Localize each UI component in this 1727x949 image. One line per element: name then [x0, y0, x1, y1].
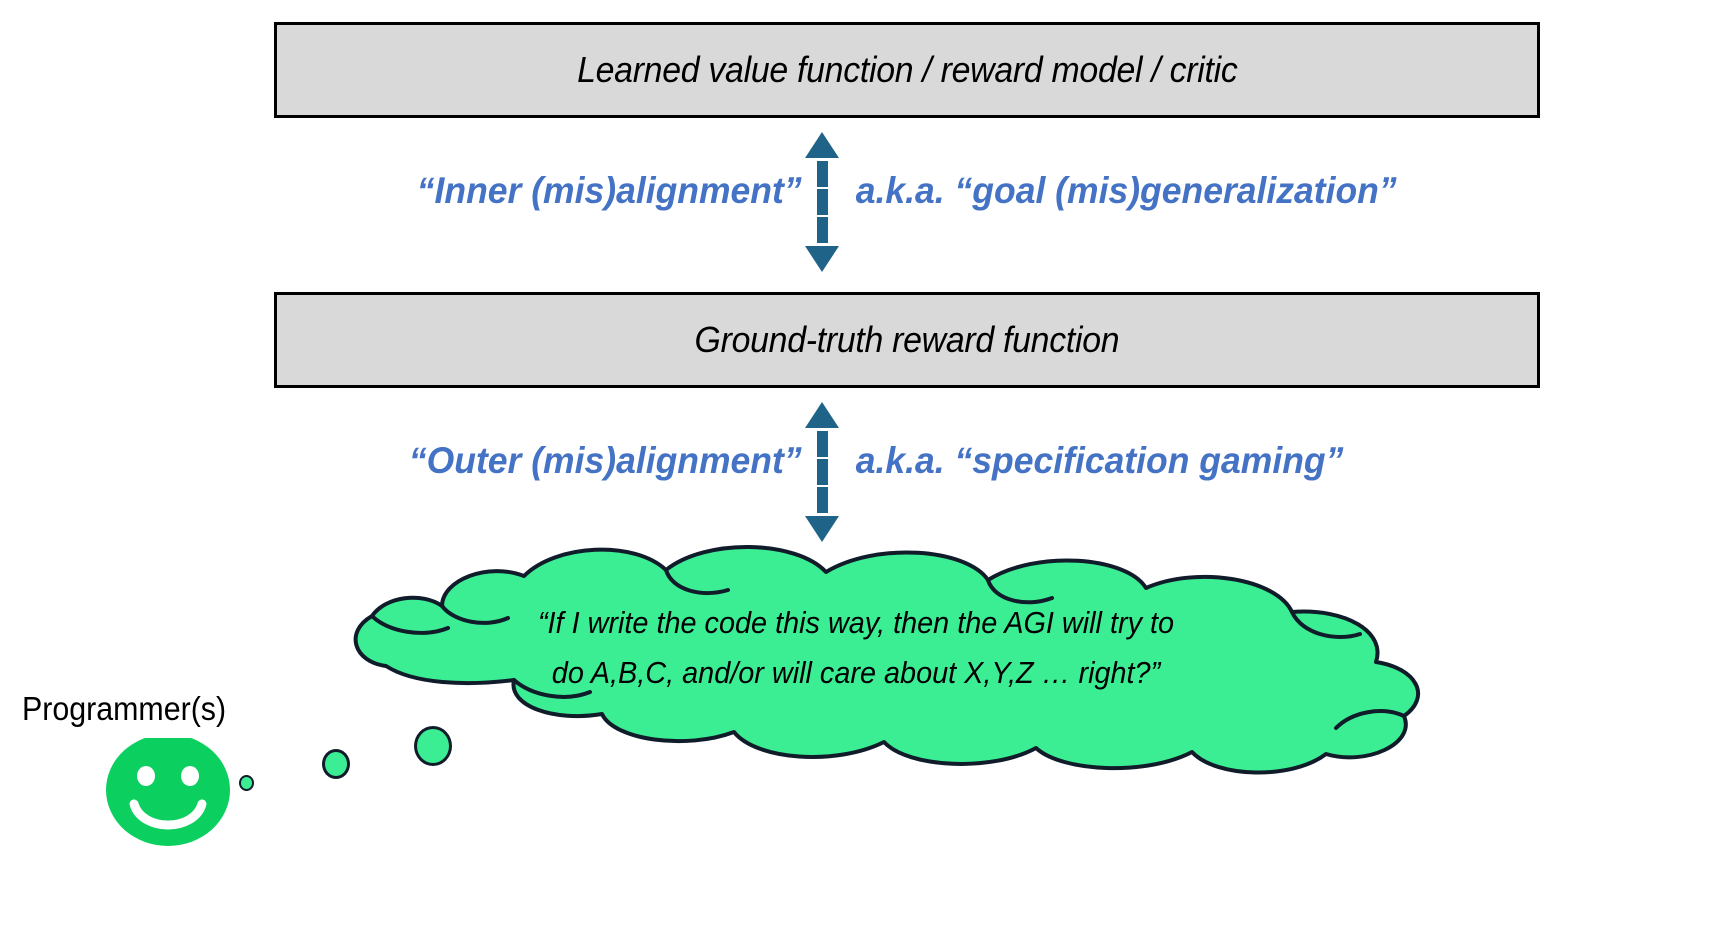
- diagram-canvas: Learned value function / reward model / …: [0, 0, 1727, 949]
- dash-segment: [817, 217, 828, 243]
- dash-segment: [817, 487, 828, 513]
- thought-cloud-line-1: “If I write the code this way, then the …: [456, 598, 1256, 648]
- thought-cloud-text: “If I write the code this way, then the …: [456, 598, 1256, 698]
- thought-bubble-small: [239, 775, 254, 791]
- inner-alignment-labels: “Inner (mis)alignment” a.k.a. “goal (mis…: [292, 170, 1532, 212]
- arrow-head-up-icon: [805, 402, 839, 428]
- arrow-head-down-icon: [805, 246, 839, 272]
- thought-cloud-line-2: do A,B,C, and/or will care about X,Y,Z ……: [456, 648, 1256, 698]
- box-learned-value-function-label: Learned value function / reward model / …: [577, 49, 1237, 91]
- thought-bubble-medium: [322, 749, 350, 779]
- programmer-label: Programmer(s): [22, 690, 226, 728]
- outer-alignment-right-label: a.k.a. “specification gaming”: [856, 440, 1518, 482]
- box-learned-value-function: Learned value function / reward model / …: [274, 22, 1540, 118]
- programmer-smiley-icon: [104, 738, 232, 848]
- outer-alignment-left-label: “Outer (mis)alignment”: [302, 440, 801, 482]
- inner-alignment-left-label: “Inner (mis)alignment”: [302, 170, 801, 212]
- inner-alignment-right-label: a.k.a. “goal (mis)generalization”: [856, 170, 1518, 212]
- thought-bubble-large: [414, 726, 452, 766]
- arrow-head-up-icon: [805, 132, 839, 158]
- box-ground-truth-reward-function-label: Ground-truth reward function: [695, 319, 1120, 361]
- outer-alignment-labels: “Outer (mis)alignment” a.k.a. “specifica…: [292, 440, 1532, 482]
- box-ground-truth-reward-function: Ground-truth reward function: [274, 292, 1540, 388]
